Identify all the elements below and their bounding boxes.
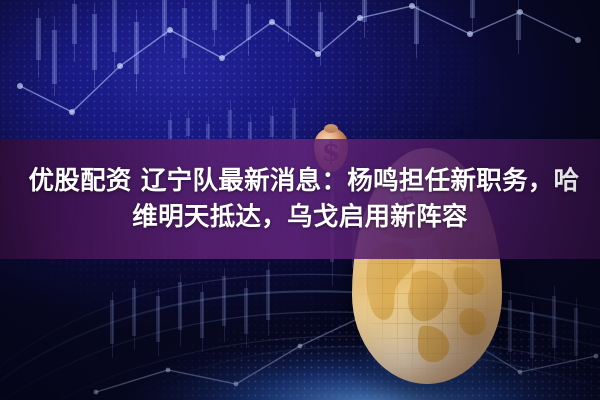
trend-node <box>315 51 321 57</box>
trend-node <box>69 109 75 115</box>
trend-node <box>94 390 99 395</box>
trend-node <box>234 382 239 387</box>
trend-node <box>166 368 171 373</box>
trend-node <box>409 3 415 9</box>
headline: 优股配资 辽宁队最新消息：杨鸣担任新职务，哈 维明天抵达，乌戈启用新阵容 <box>0 139 600 259</box>
trend-node <box>594 354 599 359</box>
trend-node <box>357 15 363 21</box>
trend-node <box>517 9 523 15</box>
headline-line-1: 优股配资 辽宁队最新消息：杨鸣担任新职务，哈 <box>21 166 580 196</box>
trend-node <box>117 63 123 69</box>
headline-line-2: 维明天抵达，乌戈启用新阵容 <box>132 202 467 232</box>
trend-node <box>17 83 23 89</box>
trend-node <box>219 55 225 61</box>
trend-node <box>298 344 303 349</box>
trend-node <box>467 31 473 37</box>
trend-node <box>575 37 581 43</box>
trend-node <box>269 19 275 25</box>
trend-polyline <box>20 6 578 112</box>
trend-node <box>167 27 173 33</box>
banner-image: $ $ 优股配资 辽宁队最新消息：杨鸣担任新职务，哈 维明天抵达，乌戈启用新阵容 <box>0 0 600 400</box>
